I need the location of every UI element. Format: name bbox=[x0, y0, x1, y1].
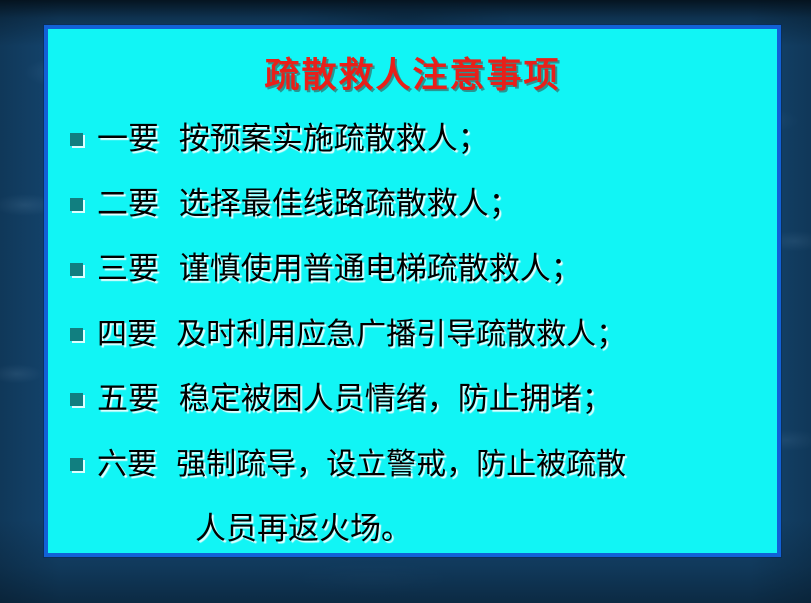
content-panel: 疏散救人注意事项 一要 按预案实施疏散救人； 二要 选择最佳线路疏散救人； 三要… bbox=[44, 25, 781, 557]
list-item: 二要 选择最佳线路疏散救人； bbox=[60, 172, 769, 237]
list-item: 五要 稳定被困人员情绪，防止拥堵； bbox=[60, 367, 769, 432]
slide-canvas: 疏散救人注意事项 一要 按预案实施疏散救人； 二要 选择最佳线路疏散救人； 三要… bbox=[0, 0, 811, 603]
list-item-label: 二要 选择最佳线路疏散救人； bbox=[97, 189, 520, 220]
list-item: 一要 按预案实施疏散救人； bbox=[60, 107, 769, 172]
square-bullet-icon bbox=[70, 133, 83, 146]
square-bullet-icon bbox=[70, 458, 83, 471]
square-bullet-icon bbox=[70, 393, 83, 406]
slide-title: 疏散救人注意事项 bbox=[48, 47, 777, 98]
list-item: 三要 谨慎使用普通电梯疏散救人； bbox=[60, 237, 769, 302]
list-item: 六要 强制疏导，设立警戒，防止被疏散 bbox=[60, 432, 769, 497]
square-bullet-icon bbox=[70, 328, 83, 341]
list-item-label: 三要 谨慎使用普通电梯疏散救人； bbox=[97, 254, 582, 285]
list-item: 四要 及时利用应急广播引导疏散救人； bbox=[60, 302, 769, 367]
list-item-label: 五要 稳定被困人员情绪，防止拥堵； bbox=[97, 384, 613, 415]
square-bullet-icon bbox=[70, 263, 83, 276]
list-item-continuation-label: 人员再返火场。 bbox=[195, 514, 412, 545]
list-item-label: 四要 及时利用应急广播引导疏散救人； bbox=[97, 320, 626, 350]
list-item-label: 六要 强制疏导，设立警戒，防止被疏散 bbox=[97, 450, 626, 480]
list-item-label: 一要 按预案实施疏散救人； bbox=[97, 124, 489, 155]
square-bullet-icon bbox=[70, 198, 83, 211]
list-item-continuation: 人员再返火场。 bbox=[60, 497, 769, 562]
bullet-list: 一要 按预案实施疏散救人； 二要 选择最佳线路疏散救人； 三要 谨慎使用普通电梯… bbox=[60, 107, 769, 562]
